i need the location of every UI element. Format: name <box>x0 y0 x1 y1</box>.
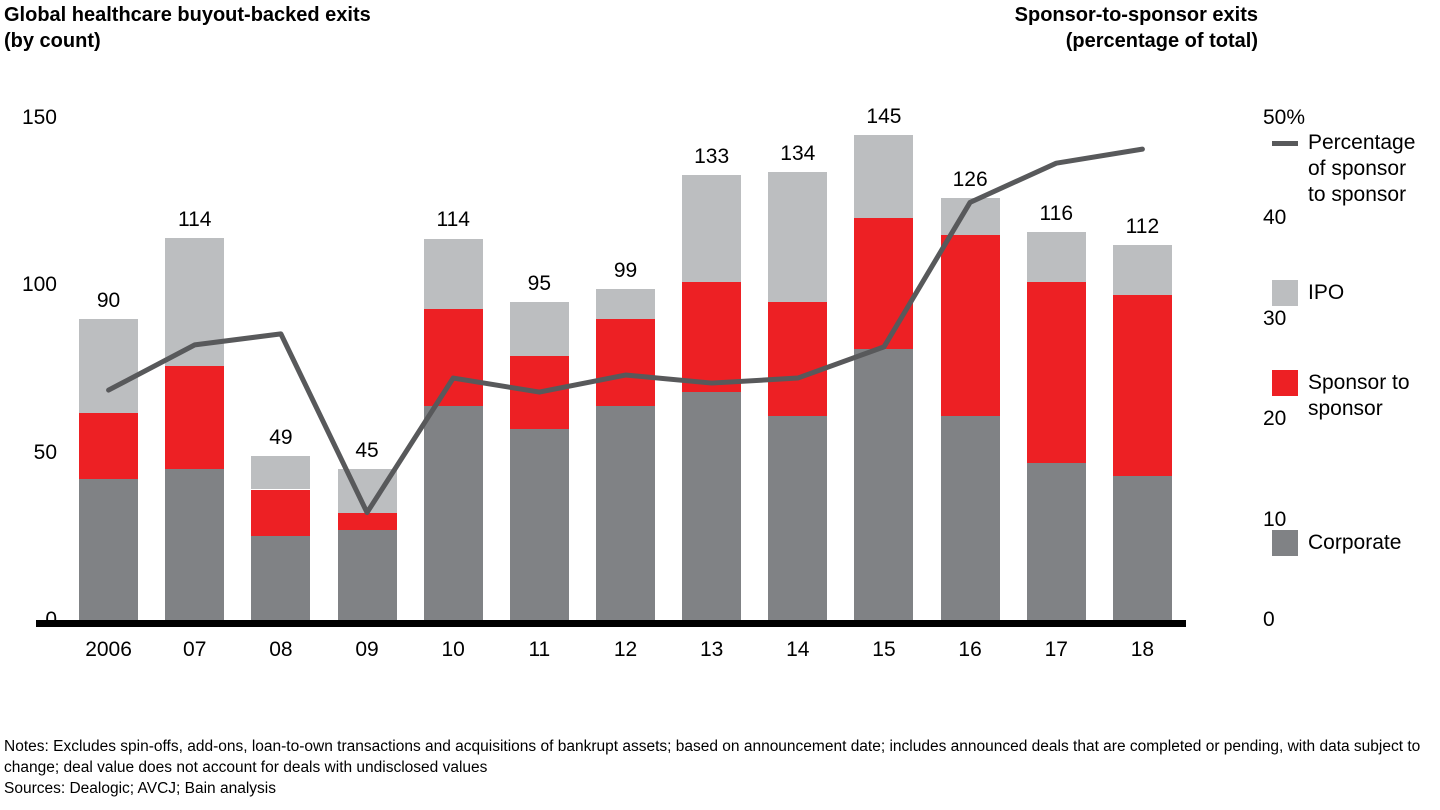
bar-segment-sponsor-to-sponsor[interactable] <box>1027 282 1086 463</box>
x-axis-tick-15: 15 <box>872 638 895 662</box>
left-axis-tick: 150 <box>3 106 57 130</box>
left-axis-tick: 50 <box>3 441 57 465</box>
bar-group[interactable]: 145 <box>854 118 913 620</box>
bar-total-label: 133 <box>694 145 729 169</box>
x-axis-tick-09: 09 <box>355 638 378 662</box>
left-axis-tick: 100 <box>3 273 57 297</box>
bar-total-label: 126 <box>953 168 988 192</box>
bar-segment-ipo[interactable] <box>424 239 483 309</box>
bar-total-label: 99 <box>614 259 637 283</box>
x-axis-tick-07: 07 <box>183 638 206 662</box>
bar-total-label: 114 <box>178 208 211 232</box>
page-title-left: Global healthcare buyout-backed exits (b… <box>4 2 371 54</box>
bar-segment-corporate[interactable] <box>424 406 483 620</box>
page-title-right: Sponsor-to-sponsor exits (percentage of … <box>1015 2 1258 54</box>
bar-segment-corporate[interactable] <box>79 479 138 620</box>
x-axis-tick-2006: 2006 <box>85 638 132 662</box>
bar-total-label: 112 <box>1126 215 1159 239</box>
bar-segment-ipo[interactable] <box>79 319 138 413</box>
x-axis-tick-08: 08 <box>269 638 292 662</box>
x-axis-baseline <box>36 620 1186 627</box>
legend-label: IPO <box>1308 280 1344 306</box>
x-axis-tick-17: 17 <box>1045 638 1068 662</box>
bar-segment-ipo[interactable] <box>338 469 397 513</box>
bar-segment-sponsor-to-sponsor[interactable] <box>251 490 310 537</box>
footnotes: Notes: Excludes spin-offs, add-ons, loan… <box>4 736 1434 799</box>
bar-group[interactable]: 116 <box>1027 118 1086 620</box>
bar-segment-sponsor-to-sponsor[interactable] <box>1113 295 1172 476</box>
bar-segment-corporate[interactable] <box>165 469 224 620</box>
legend-label: Corporate <box>1308 530 1401 556</box>
legend-label: Percentage of sponsor to sponsor <box>1308 130 1415 208</box>
bar-segment-corporate[interactable] <box>768 416 827 620</box>
bar-segment-sponsor-to-sponsor[interactable] <box>596 319 655 406</box>
legend-swatch-icon <box>1272 370 1298 396</box>
sources-text: Sources: Dealogic; AVCJ; Bain analysis <box>4 778 1434 799</box>
chart-root: Global healthcare buyout-backed exits (b… <box>0 0 1440 810</box>
bar-group[interactable]: 49 <box>251 118 310 620</box>
bar-segment-ipo[interactable] <box>1027 232 1086 282</box>
bar-segment-ipo[interactable] <box>165 238 224 365</box>
bar-total-label: 90 <box>97 289 120 313</box>
bar-group[interactable]: 99 <box>596 118 655 620</box>
bar-total-label: 134 <box>780 142 815 166</box>
bar-segment-ipo[interactable] <box>768 172 827 303</box>
x-axis-tick-12: 12 <box>614 638 637 662</box>
bar-group[interactable]: 114 <box>424 118 483 620</box>
bar-segment-corporate[interactable] <box>510 429 569 620</box>
x-axis-tick-13: 13 <box>700 638 723 662</box>
bar-segment-corporate[interactable] <box>854 349 913 620</box>
legend-item-sponsor-to-sponsor[interactable]: Sponsor to sponsor <box>1272 370 1410 422</box>
bar-segment-sponsor-to-sponsor[interactable] <box>854 218 913 349</box>
bar-group[interactable]: 112 <box>1113 118 1172 620</box>
bar-segment-ipo[interactable] <box>854 135 913 219</box>
legend-swatch-icon <box>1272 530 1298 556</box>
bar-segment-ipo[interactable] <box>682 175 741 282</box>
plot-area: 050100150 01020304050% 90114494511495991… <box>65 118 1185 620</box>
bar-group[interactable]: 134 <box>768 118 827 620</box>
notes-text: Notes: Excludes spin-offs, add-ons, loan… <box>4 736 1434 778</box>
x-axis-tick-11: 11 <box>528 638 550 662</box>
bar-segment-sponsor-to-sponsor[interactable] <box>768 302 827 416</box>
bar-segment-sponsor-to-sponsor[interactable] <box>682 282 741 392</box>
x-axis-tick-10: 10 <box>442 638 465 662</box>
x-axis-tick-16: 16 <box>958 638 981 662</box>
bar-segment-sponsor-to-sponsor[interactable] <box>510 356 569 430</box>
bar-group[interactable]: 133 <box>682 118 741 620</box>
bar-total-label: 49 <box>269 426 292 450</box>
bar-segment-corporate[interactable] <box>596 406 655 620</box>
legend-item-percentage-line[interactable]: Percentage of sponsor to sponsor <box>1272 130 1415 208</box>
bar-total-label: 114 <box>436 208 469 232</box>
right-axis-tick: 50% <box>1263 106 1323 130</box>
x-axis-tick-14: 14 <box>786 638 809 662</box>
bar-segment-sponsor-to-sponsor[interactable] <box>165 366 224 470</box>
right-axis-tick: 0 <box>1263 608 1323 632</box>
bar-total-label: 95 <box>528 272 551 296</box>
bar-segment-corporate[interactable] <box>1027 463 1086 620</box>
bar-segment-corporate[interactable] <box>941 416 1000 620</box>
bar-segment-sponsor-to-sponsor[interactable] <box>424 309 483 406</box>
legend-item-corporate[interactable]: Corporate <box>1272 530 1401 556</box>
bar-total-label: 145 <box>866 105 901 129</box>
bar-group[interactable]: 114 <box>165 118 224 620</box>
bar-segment-corporate[interactable] <box>1113 476 1172 620</box>
bar-segment-ipo[interactable] <box>510 302 569 356</box>
bar-segment-corporate[interactable] <box>251 536 310 620</box>
bar-group[interactable]: 90 <box>79 118 138 620</box>
bar-segment-sponsor-to-sponsor[interactable] <box>79 413 138 480</box>
bar-segment-ipo[interactable] <box>251 456 310 489</box>
bar-group[interactable]: 126 <box>941 118 1000 620</box>
bar-group[interactable]: 95 <box>510 118 569 620</box>
legend-swatch-icon <box>1272 280 1298 306</box>
bar-segment-ipo[interactable] <box>941 198 1000 235</box>
bar-total-label: 45 <box>355 439 378 463</box>
bar-segment-ipo[interactable] <box>596 289 655 319</box>
bar-segment-sponsor-to-sponsor[interactable] <box>338 513 397 530</box>
bar-segment-sponsor-to-sponsor[interactable] <box>941 235 1000 416</box>
right-axis-tick: 30 <box>1263 307 1323 331</box>
legend-line-icon <box>1272 130 1298 156</box>
bar-segment-corporate[interactable] <box>338 530 397 620</box>
legend-label: Sponsor to sponsor <box>1308 370 1410 422</box>
bar-segment-corporate[interactable] <box>682 392 741 620</box>
right-axis-tick: 40 <box>1263 206 1323 230</box>
bar-segment-ipo[interactable] <box>1113 245 1172 295</box>
bar-group[interactable]: 45 <box>338 118 397 620</box>
x-axis-tick-18: 18 <box>1131 638 1154 662</box>
right-axis-tick: 10 <box>1263 508 1323 532</box>
legend-item-ipo[interactable]: IPO <box>1272 280 1344 306</box>
bar-total-label: 116 <box>1040 202 1073 226</box>
